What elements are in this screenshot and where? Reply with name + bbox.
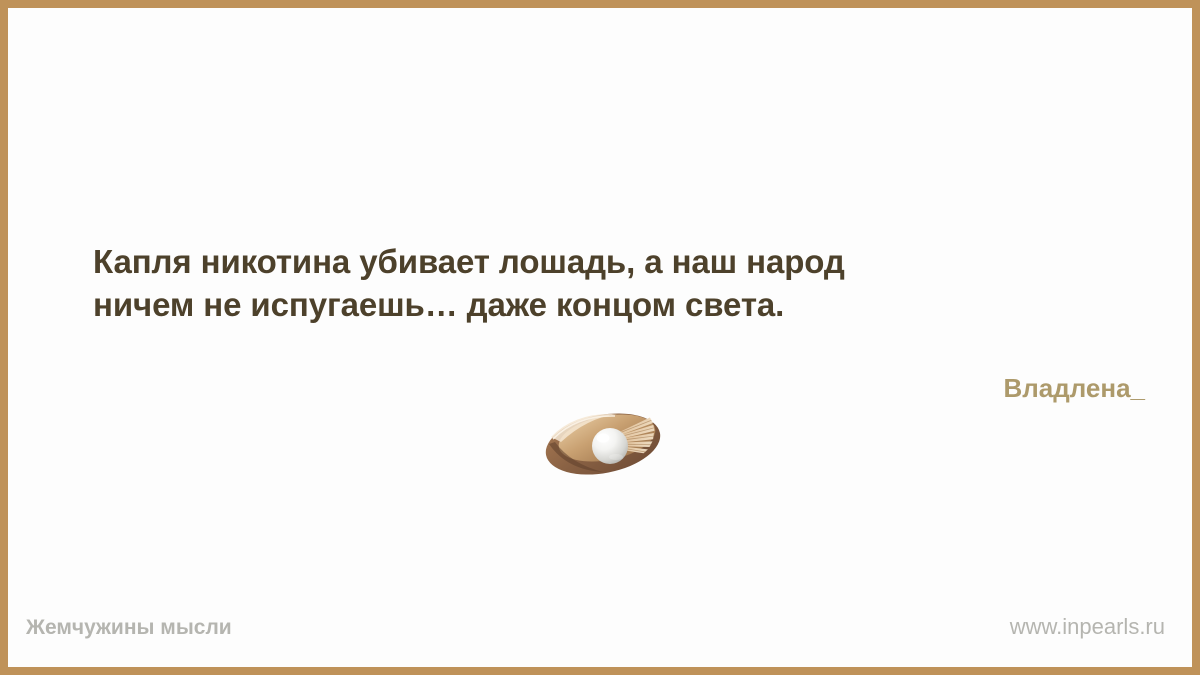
quote-author: Владлена_ bbox=[1003, 372, 1145, 404]
footer-site-url[interactable]: www.inpearls.ru bbox=[1010, 614, 1165, 640]
quote-text: Капля никотина убивает лошадь, а наш нар… bbox=[93, 240, 1123, 326]
quote-line-1: Капля никотина убивает лошадь, а наш нар… bbox=[93, 240, 1123, 283]
quote-card: Капля никотина убивает лошадь, а наш нар… bbox=[0, 0, 1200, 675]
shell-with-pearl-icon bbox=[541, 404, 671, 476]
footer-site-name: Жемчужины мысли bbox=[26, 616, 232, 640]
quote-line-2: ничем не испугаешь… даже концом света. bbox=[93, 283, 1123, 326]
